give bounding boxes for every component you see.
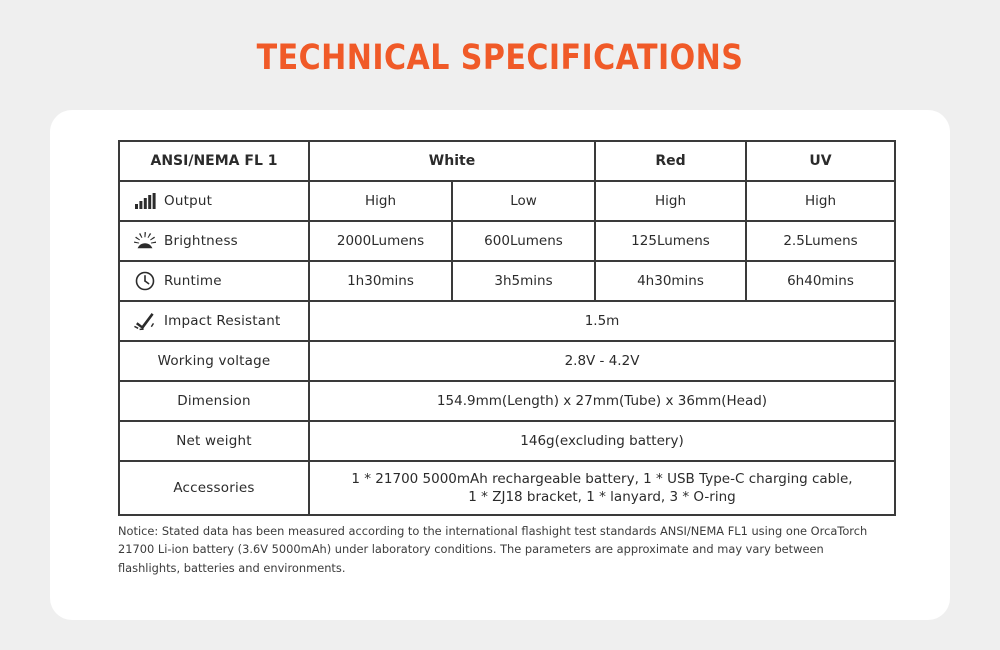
- row-label-impact-resistant: Impact Resistant: [119, 301, 309, 341]
- table-row: Impact Resistant 1.5m: [119, 301, 895, 341]
- header-ansi-nema: ANSI/NEMA FL 1: [119, 141, 309, 181]
- cell-brightness-uv: 2.5Lumens: [746, 221, 895, 261]
- table-row: Output High Low High High: [119, 181, 895, 221]
- row-label-text: Brightness: [164, 232, 238, 250]
- cell-impact-resistant-value: 1.5m: [309, 301, 895, 341]
- cell-net-weight-value: 146g(excluding battery): [309, 421, 895, 461]
- row-label-brightness: Brightness: [119, 221, 309, 261]
- row-label-text: Dimension: [177, 392, 251, 410]
- table-row: Net weight 146g(excluding battery): [119, 421, 895, 461]
- row-label-runtime: Runtime: [119, 261, 309, 301]
- table-row: Accessories 1 * 21700 5000mAh rechargeab…: [119, 461, 895, 515]
- row-label-net-weight: Net weight: [119, 421, 309, 461]
- table-row: Brightness 2000Lumens 600Lumens 125Lumen…: [119, 221, 895, 261]
- table-row: Runtime 1h30mins 3h5mins 4h30mins 6h40mi…: [119, 261, 895, 301]
- impact-checkmark-icon: [134, 311, 156, 331]
- brightness-sunburst-icon: [134, 231, 156, 251]
- cell-runtime-white-high: 1h30mins: [309, 261, 452, 301]
- accessories-line-2: 1 * ZJ18 bracket, 1 * lanyard, 3 * O-rin…: [468, 489, 735, 505]
- row-label-text: Net weight: [176, 432, 252, 450]
- cell-output-white-low: Low: [452, 181, 595, 221]
- header-uv: UV: [746, 141, 895, 181]
- cell-brightness-white-high: 2000Lumens: [309, 221, 452, 261]
- table-header-row: ANSI/NEMA FL 1 White Red UV: [119, 141, 895, 181]
- cell-runtime-white-low: 3h5mins: [452, 261, 595, 301]
- cell-output-white-high: High: [309, 181, 452, 221]
- header-red: Red: [595, 141, 746, 181]
- signal-bars-icon: [134, 191, 156, 211]
- row-label-text: Output: [164, 192, 212, 210]
- row-label-text: Accessories: [173, 479, 254, 497]
- cell-runtime-uv: 6h40mins: [746, 261, 895, 301]
- cell-output-red: High: [595, 181, 746, 221]
- cell-accessories-value: 1 * 21700 5000mAh rechargeable battery, …: [309, 461, 895, 515]
- table-row: Working voltage 2.8V - 4.2V: [119, 341, 895, 381]
- clock-icon: [134, 271, 156, 291]
- row-label-output: Output: [119, 181, 309, 221]
- notice-text: Notice: Stated data has been measured ac…: [118, 522, 888, 577]
- cell-brightness-white-low: 600Lumens: [452, 221, 595, 261]
- row-label-accessories: Accessories: [119, 461, 309, 515]
- cell-dimension-value: 154.9mm(Length) x 27mm(Tube) x 36mm(Head…: [309, 381, 895, 421]
- cell-working-voltage-value: 2.8V - 4.2V: [309, 341, 895, 381]
- table-row: Dimension 154.9mm(Length) x 27mm(Tube) x…: [119, 381, 895, 421]
- row-label-dimension: Dimension: [119, 381, 309, 421]
- cell-brightness-red: 125Lumens: [595, 221, 746, 261]
- technical-specifications-table: ANSI/NEMA FL 1 White Red UV: [118, 140, 896, 516]
- spec-sheet-page: TECHNICAL SPECIFICATIONS ANSI/NEMA FL 1 …: [0, 0, 1000, 650]
- page-title: TECHNICAL SPECIFICATIONS: [70, 38, 930, 78]
- spec-card: ANSI/NEMA FL 1 White Red UV: [50, 110, 950, 620]
- row-label-working-voltage: Working voltage: [119, 341, 309, 381]
- cell-output-uv: High: [746, 181, 895, 221]
- row-label-text: Runtime: [164, 272, 222, 290]
- accessories-line-1: 1 * 21700 5000mAh rechargeable battery, …: [351, 471, 852, 487]
- cell-runtime-red: 4h30mins: [595, 261, 746, 301]
- row-label-text: Impact Resistant: [164, 312, 281, 330]
- header-white: White: [309, 141, 595, 181]
- row-label-text: Working voltage: [158, 352, 271, 370]
